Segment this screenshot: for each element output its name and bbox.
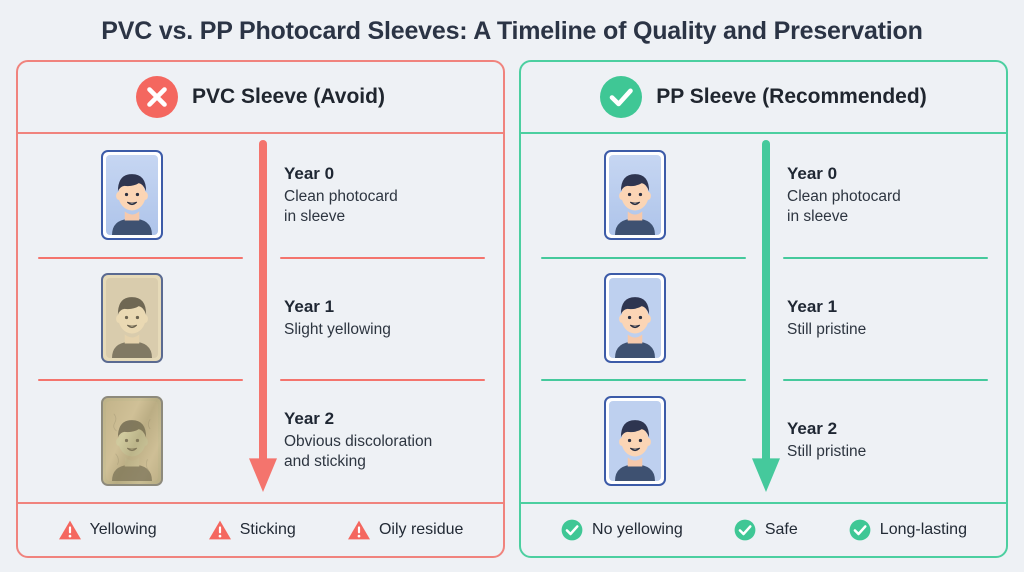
badge-label: Sticking: [240, 521, 296, 539]
year-description: Obvious discoloration and sticking: [284, 432, 503, 472]
warning-triangle-icon: [58, 518, 82, 542]
warning-triangle-icon: [347, 518, 371, 542]
panel-pp-footer: No yellowing Safe: [521, 502, 1006, 556]
badge-label: Oily residue: [379, 521, 463, 539]
timeline-text: Year 0 Clean photocard in sleeve: [749, 164, 1006, 227]
check-circle-icon: [600, 76, 642, 118]
year-description: Slight yellowing: [284, 320, 503, 340]
panel-pp-header: PP Sleeve (Recommended): [521, 62, 1006, 134]
x-circle-icon: [136, 76, 178, 118]
photocard-year2: [604, 396, 666, 486]
photocard-cell: [18, 396, 246, 486]
timeline-text: Year 1 Slight yellowing: [246, 297, 503, 340]
status-badge: Sticking: [208, 518, 296, 542]
status-badge: Oily residue: [347, 518, 463, 542]
badge-label: No yellowing: [592, 521, 683, 539]
badge-label: Long-lasting: [880, 521, 967, 539]
photocard-year1: [604, 273, 666, 363]
panel-pvc-timeline: Year 0 Clean photocard in sleeve: [18, 134, 503, 502]
timeline-text: Year 2 Obvious discoloration and stickin…: [246, 409, 503, 472]
warning-triangle-icon: [208, 518, 232, 542]
panel-pvc-title: PVC Sleeve (Avoid): [192, 85, 385, 109]
check-circle-icon: [560, 518, 584, 542]
photocard-cell: [18, 273, 246, 363]
check-circle-icon: [848, 518, 872, 542]
page-title: PVC vs. PP Photocard Sleeves: A Timeline…: [0, 0, 1024, 58]
year-label: Year 1: [284, 297, 503, 317]
timeline-row: Year 2 Still pristine: [521, 379, 1006, 502]
year-description: Clean photocard in sleeve: [787, 187, 1006, 227]
year-label: Year 0: [787, 164, 1006, 184]
timeline-text: Year 0 Clean photocard in sleeve: [246, 164, 503, 227]
panel-pvc-header: PVC Sleeve (Avoid): [18, 62, 503, 134]
status-badge: No yellowing: [560, 518, 683, 542]
year-label: Year 0: [284, 164, 503, 184]
photocard-year0: [101, 150, 163, 240]
panel-pvc-footer: Yellowing Sticking: [18, 502, 503, 556]
photocard-year2: [101, 396, 163, 486]
timeline-row: Year 2 Obvious discoloration and stickin…: [18, 379, 503, 502]
badge-label: Safe: [765, 521, 798, 539]
status-badge: Safe: [733, 518, 798, 542]
timeline-text: Year 1 Still pristine: [749, 297, 1006, 340]
year-description: Still pristine: [787, 442, 1006, 462]
year-label: Year 2: [284, 409, 503, 429]
year-description: Clean photocard in sleeve: [284, 187, 503, 227]
photocard-cell: [521, 273, 749, 363]
timeline-row: Year 1 Slight yellowing: [18, 257, 503, 380]
status-badge: Long-lasting: [848, 518, 967, 542]
photocard-cell: [521, 396, 749, 486]
photocard-year1: [101, 273, 163, 363]
panel-pp: PP Sleeve (Recommended): [519, 60, 1008, 558]
year-label: Year 1: [787, 297, 1006, 317]
panel-pp-title: PP Sleeve (Recommended): [656, 85, 926, 109]
panels-container: PVC Sleeve (Avoid): [0, 60, 1024, 566]
panel-pp-timeline: Year 0 Clean photocard in sleeve: [521, 134, 1006, 502]
infographic-page: PVC vs. PP Photocard Sleeves: A Timeline…: [0, 0, 1024, 572]
timeline-row: Year 0 Clean photocard in sleeve: [18, 134, 503, 257]
year-description: Still pristine: [787, 320, 1006, 340]
timeline-row: Year 1 Still pristine: [521, 257, 1006, 380]
timeline-text: Year 2 Still pristine: [749, 419, 1006, 462]
check-circle-icon: [733, 518, 757, 542]
photocard-year0: [604, 150, 666, 240]
photocard-cell: [521, 150, 749, 240]
year-label: Year 2: [787, 419, 1006, 439]
badge-label: Yellowing: [90, 521, 157, 539]
panel-pvc: PVC Sleeve (Avoid): [16, 60, 505, 558]
photocard-cell: [18, 150, 246, 240]
status-badge: Yellowing: [58, 518, 157, 542]
timeline-row: Year 0 Clean photocard in sleeve: [521, 134, 1006, 257]
